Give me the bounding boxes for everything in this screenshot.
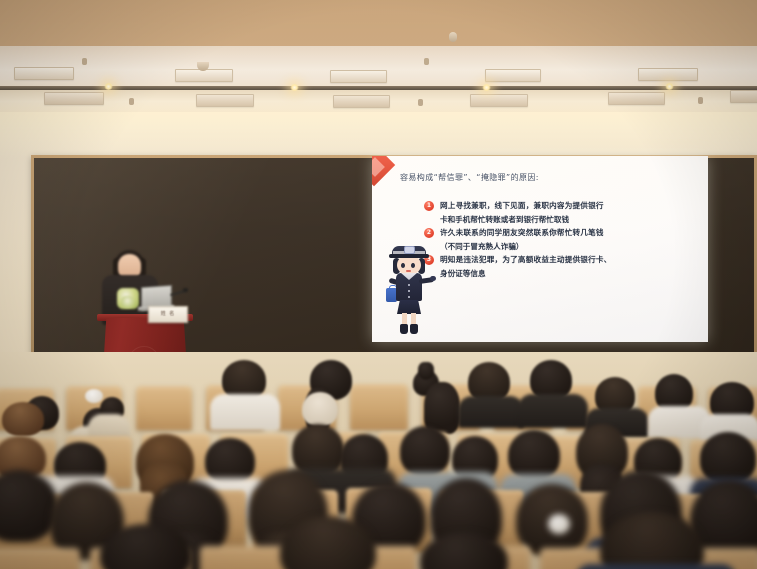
audience-shoulders [576,564,736,569]
ceiling-sprinkler-icon [449,32,457,42]
slide-bullet-list: 1 网上寻找兼职，线下见面，兼职内容为提供银行 卡和手机帮忙转账或者到银行帮忙取… [424,200,694,281]
ceiling-spotlight [665,83,674,90]
seat [136,386,192,430]
ceiling-vent [485,69,541,82]
seat [350,384,408,430]
ceiling-sensor-icon [82,58,87,65]
ceiling-vent [730,90,757,103]
ceiling-vent [470,94,528,107]
microphone-icon [183,288,188,292]
hair-scrunchie [85,389,103,403]
bullet-number-badge: 2 [424,228,434,238]
ceiling-vent [330,70,387,83]
slide-title: 容易构成“帮信罪”、“掩隐罪”的原因: [400,172,539,183]
lecture-hall-photo: 容易构成“帮信罪”、“掩隐罪”的原因: 1 网上寻找兼职，线下见面，兼职内容为提… [0,0,757,569]
ceiling-vent [638,68,698,81]
flower-bouquet-center [121,296,134,308]
ceiling-sensor-icon [418,99,423,106]
ceiling-vent [608,92,665,105]
seat [0,548,80,569]
ceiling-spotlight [482,84,491,91]
audience-head [700,432,756,484]
bullet-text-continued: （不同于冒充熟人诈骗） [440,241,694,253]
wall-light-glow [0,112,757,158]
ceiling-vent [14,67,74,80]
bullet-number-badge: 1 [424,201,434,211]
name-placard-text: 姓 名 [156,310,180,317]
hair-scrunchie [548,514,570,534]
ceiling-spotlight [104,83,113,90]
ceiling-spotlight [290,84,299,91]
ceiling [0,0,757,118]
audience-head [400,426,450,476]
audience-head [302,392,338,426]
audience-head [508,430,560,480]
cartoon-police-officer-icon [386,244,434,340]
bullet-text: 明知是违法犯罪，为了高额收益主动提供银行卡、 [440,254,611,266]
ceiling-sensor-icon [698,97,703,104]
audience-head [2,402,44,436]
ceiling-vent [175,69,233,82]
list-item: 3 明知是违法犯罪，为了高额收益主动提供银行卡、 [424,254,694,266]
ceiling-vent [44,92,104,105]
projected-slide: 容易构成“帮信罪”、“掩隐罪”的原因: 1 网上寻找兼职，线下见面，兼职内容为提… [372,156,708,342]
ponytail [418,362,434,380]
audience-area [0,352,757,569]
ceiling-vent [196,94,254,107]
ceiling-sensor-icon [424,58,429,65]
audience-shoulders [518,394,588,428]
audience-shoulders [458,396,524,428]
ceiling-vent [333,95,390,108]
ceiling-sensor-icon [129,98,134,105]
bullet-text: 网上寻找兼职，线下见面，兼职内容为提供银行 [440,200,604,212]
bullet-text: 许久未联系的同学朋友突然联系你帮忙转几笔钱 [440,227,604,239]
bullet-text-continued: 身份证等信息 [440,268,694,280]
audience-shoulders [210,394,280,430]
bullet-text-continued: 卡和手机帮忙转账或者到银行帮忙取钱 [440,214,694,226]
ceiling-upper-panel [0,0,757,48]
list-item: 1 网上寻找兼职，线下见面，兼职内容为提供银行 [424,200,694,212]
list-item: 2 许久未联系的同学朋友突然联系你帮忙转几笔钱 [424,227,694,239]
